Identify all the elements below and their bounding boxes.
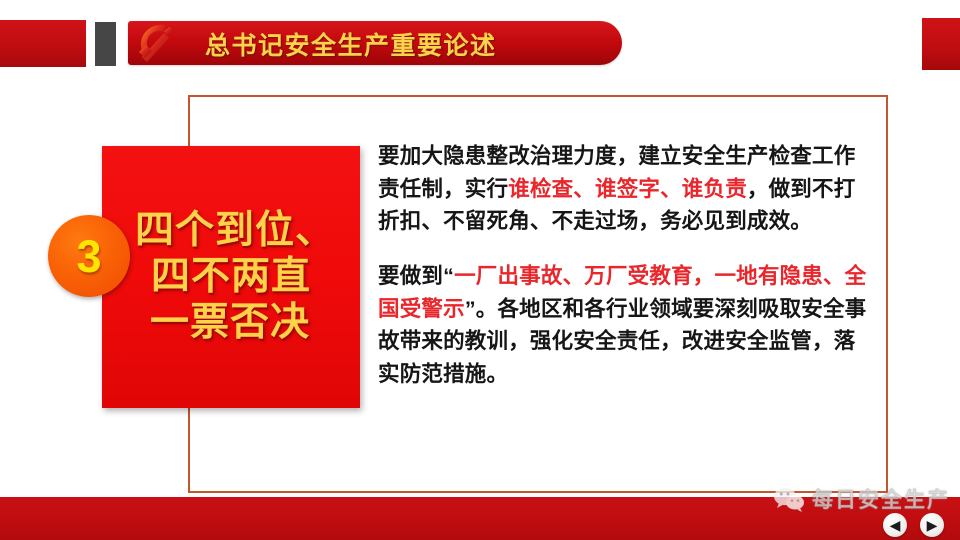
slide-navigation[interactable]: ◀ ▶ bbox=[883, 513, 944, 537]
headline-line-2: 四不两直 bbox=[151, 254, 311, 300]
wechat-icon bbox=[773, 486, 805, 513]
chevron-right-icon: ▶ bbox=[927, 518, 938, 532]
step-number-value: 3 bbox=[76, 234, 101, 279]
body-text-block: 要加大隐患整改治理力度，建立安全生产检查工作责任制，实行谁检查、谁签字、谁负责，… bbox=[378, 140, 870, 391]
header-title: 总书记安全生产重要论述 bbox=[205, 22, 497, 66]
next-slide-button[interactable]: ▶ bbox=[920, 513, 944, 537]
headline-line-3: 一票否决 bbox=[150, 300, 310, 346]
body-paragraph-2: 要做到“一厂出事故、万厂受教育，一地有隐患、全国受警示”。各地区和各行业领域要深… bbox=[378, 260, 870, 391]
header-accent-bar-left bbox=[0, 20, 86, 67]
slide-canvas: 总书记安全生产重要论述 四个到位、 四不两直 一票否决 3 要加大隐患整改治理力… bbox=[0, 0, 960, 540]
chevron-left-icon: ◀ bbox=[890, 518, 901, 532]
header-corner-accent bbox=[922, 18, 960, 70]
header-accent-bar-gray bbox=[95, 22, 116, 66]
prev-slide-button[interactable]: ◀ bbox=[883, 513, 907, 537]
headline-line-1: 四个到位、 bbox=[135, 208, 335, 254]
watermark-text: 每日安全生产 bbox=[812, 484, 950, 514]
paragraph-1-highlight: 谁检查、谁签字、谁负责 bbox=[508, 177, 747, 201]
step-number-badge: 3 bbox=[48, 215, 130, 297]
party-emblem-icon bbox=[131, 19, 183, 67]
watermark: 每日安全生产 bbox=[773, 484, 950, 514]
headline-red-box: 四个到位、 四不两直 一票否决 bbox=[102, 146, 360, 408]
paragraph-2-segment-1: 要做到“ bbox=[378, 264, 454, 288]
body-paragraph-1: 要加大隐患整改治理力度，建立安全生产检查工作责任制，实行谁检查、谁签字、谁负责，… bbox=[378, 140, 870, 238]
